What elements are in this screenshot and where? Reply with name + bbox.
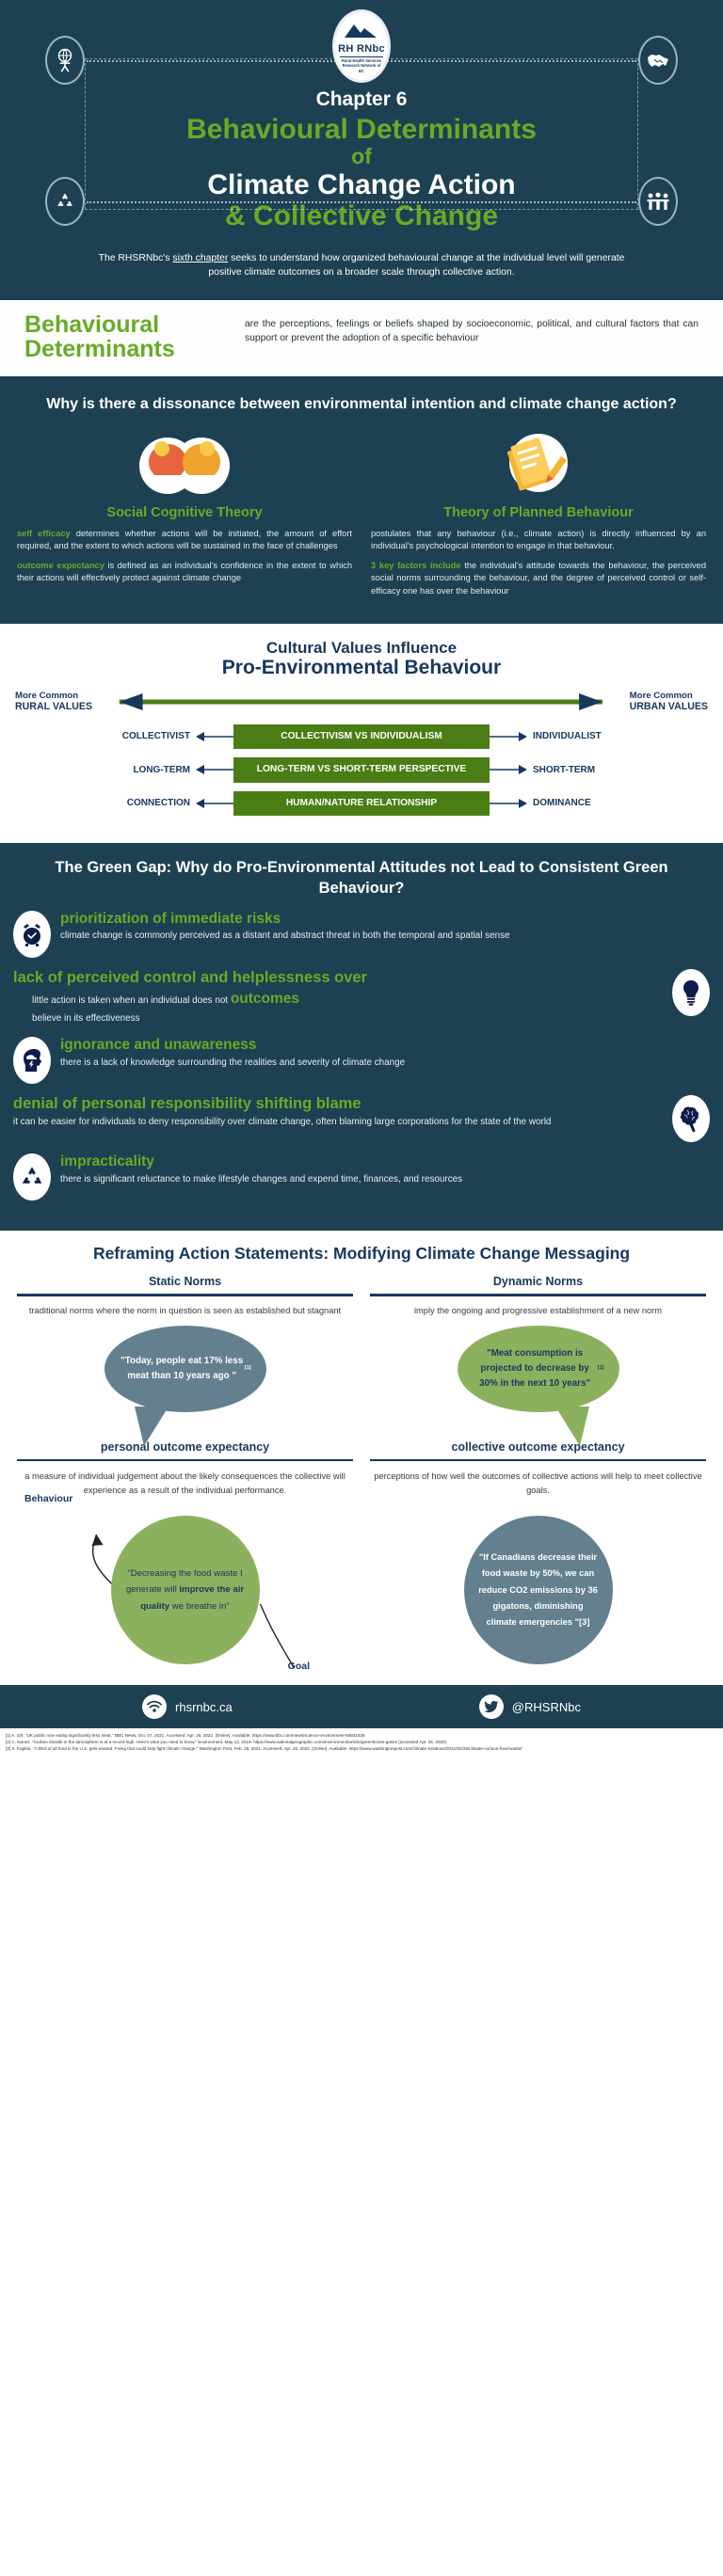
theory-para-1: self efficacy determines whether actions… (17, 528, 352, 552)
axis-label-urban-bottom: URBAN VALUES (630, 701, 708, 712)
gap-item-body: little action is taken when an individua… (13, 989, 663, 1010)
gap-item-denial: denial of personal responsibility shifti… (13, 1095, 710, 1142)
gap-item-title: ignorance and unawareness (60, 1037, 710, 1054)
theory-b-para-1: postulates that any behaviour (i.e., cli… (371, 528, 706, 552)
brain-icon (672, 1095, 710, 1142)
recycle-icon (45, 177, 85, 226)
theory-column-social-cognitive: Social Cognitive Theory self efficacy de… (17, 426, 352, 605)
clipboard-checklist-icon (371, 426, 706, 500)
intro-text-b: seeks to understand how organized behavi… (208, 253, 624, 278)
divider-rule (370, 1459, 706, 1462)
value-right-label: INDIVIDUALIST (527, 731, 648, 741)
people-group-icon (638, 177, 678, 226)
dynamic-norms-quote-bubble: "Meat consumption is projected to decrea… (458, 1326, 619, 1412)
hero-dotted-line-bottom (87, 201, 636, 203)
title-line-1: Behavioural Determinants (0, 115, 723, 145)
value-right-label: SHORT-TERM (527, 765, 648, 775)
divider-rule (17, 1459, 353, 1462)
reframing-section: Reframing Action Statements: Modifying C… (0, 1231, 723, 1685)
arrow-left-icon (196, 762, 233, 777)
reference-item: [2] C. Nunez, "Carbon dioxide in the atm… (6, 1739, 717, 1745)
arrow-left-icon (196, 796, 233, 811)
behaviour-label: Behaviour (24, 1493, 72, 1504)
handshake-icon (638, 36, 678, 85)
website-link[interactable]: rhsrnbc.ca (142, 1694, 233, 1719)
arrow-right-icon (490, 796, 527, 811)
arrow-right-icon (490, 762, 527, 777)
cultural-values-section: Cultural Values Influence Pro-Environmen… (0, 624, 723, 843)
static-norms-quote-bubble: "Today, people eat 17% less meat than 10… (104, 1326, 266, 1412)
definition-text: are the perceptions, feelings or beliefs… (245, 313, 699, 346)
logo-subtitle: Rural Health Services Research Network o… (340, 56, 383, 72)
gap-item-body-part-1: little action is taken when an individua… (32, 995, 231, 1006)
references-list: [1] A. Gill, "UK public now eating signi… (0, 1728, 723, 1759)
cultural-title-big: Pro-Environmental Behaviour (15, 657, 708, 679)
website-label: rhsrnbc.ca (175, 1700, 233, 1714)
head-storm-icon (13, 1037, 51, 1084)
gap-item-title: denial of personal responsibility shifti… (13, 1095, 663, 1113)
personal-outcome-expectancy-title: personal outcome expectancy (17, 1440, 353, 1454)
recycle-icon (13, 1153, 51, 1201)
static-norms-column: Static Norms traditional norms where the… (17, 1275, 353, 1668)
gap-item-title: impracticality (60, 1153, 710, 1170)
collective-outcome-expectancy-title: collective outcome expectancy (370, 1440, 706, 1454)
theory-column-planned-behaviour: Theory of Planned Behaviour postulates t… (371, 426, 706, 605)
static-norms-quote: "Today, people eat 17% less meat than 10… (120, 1354, 245, 1384)
gap-item-body: there is a lack of knowledge surrounding… (60, 1057, 710, 1070)
dynamic-norms-column: Dynamic Norms imply the ongoing and prog… (370, 1275, 706, 1668)
value-row: COLLECTIVIST COLLECTIVISM VS INDIVIDUALI… (15, 724, 708, 749)
dynamic-norms-description: imply the ongoing and progressive establ… (370, 1305, 706, 1318)
divider-rule (17, 1294, 353, 1296)
keyword-3-key-factors: 3 key factors include (371, 561, 461, 570)
behaviour-goal-diagram: Behaviour "Decreasing the food waste I g… (17, 1503, 353, 1668)
value-row: LONG-TERM LONG-TERM VS SHORT-TERM PERSPE… (15, 757, 708, 782)
bubble-tail (555, 1407, 589, 1446)
logo-wordmark: RH RNbc (338, 44, 385, 55)
chapter-label: Chapter 6 (0, 88, 723, 111)
twitter-handle[interactable]: @RHSRNbc (479, 1694, 581, 1719)
goal-label: Goal (288, 1661, 310, 1672)
collective-outcome-expectancy-desc: perceptions of how well the outcomes of … (370, 1470, 706, 1497)
reference-item: [1] A. Gill, "UK public now eating signi… (6, 1732, 717, 1739)
static-norms-subtitle: Static Norms (17, 1275, 353, 1288)
definition-term-line-2: Determinants (24, 338, 230, 362)
static-norms-quote-ref: [1] (245, 1364, 251, 1373)
gap-item-body-2: believe in its effectiveness (13, 1012, 663, 1026)
reference-item: [3] S. Kaplan, "A third of all food in t… (6, 1745, 717, 1752)
gap-item-body: it can be easier for individuals to deny… (13, 1116, 663, 1129)
twitter-label: @RHSRNbc (512, 1700, 581, 1714)
value-center-box: HUMAN/NATURE RELATIONSHIP (233, 791, 490, 816)
dissonance-section: Why is there a dissonance between enviro… (0, 380, 723, 624)
mountain-icon (343, 23, 380, 43)
gap-item-impracticality: impracticality there is significant relu… (13, 1153, 710, 1201)
gap-item-body: climate change is commonly perceived as … (60, 930, 710, 943)
dynamic-norms-bubble-wrap: "Meat consumption is projected to decrea… (370, 1326, 706, 1437)
title-line-2: of (0, 145, 723, 168)
rhsrnbc-logo: RH RNbc Rural Health Services Research N… (332, 9, 391, 83)
reframing-heading: Reframing Action Statements: Modifying C… (17, 1244, 706, 1264)
title-line-4: & Collective Change (0, 200, 723, 232)
value-right-label: DOMINANCE (527, 798, 648, 808)
axis-label-rural-bottom: RURAL VALUES (15, 701, 92, 712)
green-gap-section: The Green Gap: Why do Pro-Environmental … (0, 843, 723, 1231)
gap-item-title: prioritization of immediate risks (60, 911, 710, 928)
collective-statement-circle: "If Canadians decrease their food waste … (464, 1516, 613, 1664)
value-left-label: LONG-TERM (75, 765, 196, 775)
axis-label-urban-top: More Common (630, 691, 708, 701)
intro-link[interactable]: sixth chapter (172, 253, 228, 263)
theory-b-para-2: 3 key factors include the individual’s a… (371, 560, 706, 597)
hero-section: RH RNbc Rural Health Services Research N… (0, 0, 723, 300)
theory-para-2: outcome expectancy is defined as an indi… (17, 560, 352, 584)
gap-item-highlight: outcomes (231, 991, 299, 1007)
dynamic-norms-quote: "Meat consumption is projected to decrea… (473, 1346, 598, 1391)
gap-item-prioritization: prioritization of immediate risks climat… (13, 911, 710, 958)
collective-statement-text: "If Canadians decrease their food waste … (478, 1552, 598, 1627)
value-row: CONNECTION HUMAN/NATURE RELATIONSHIP DOM… (15, 791, 708, 816)
green-gap-heading: The Green Gap: Why do Pro-Environmental … (13, 858, 710, 899)
static-norms-bubble-wrap: "Today, people eat 17% less meat than 10… (17, 1326, 353, 1437)
two-heads-thinking-icon (17, 426, 352, 500)
footer-bar: rhsrnbc.ca @RHSRNbc (0, 1685, 723, 1728)
definition-term-line-1: Behavioural (24, 313, 230, 338)
gap-item-ignorance: ignorance and unawareness there is a lac… (13, 1037, 710, 1084)
title-line-3: Climate Change Action (0, 169, 723, 201)
value-left-label: CONNECTION (75, 798, 196, 808)
lightbulb-icon (672, 969, 710, 1016)
bubble-tail (135, 1407, 169, 1446)
intro-paragraph: The RHSRNbc's sixth chapter seeks to und… (98, 251, 625, 279)
arrow-left-icon (196, 729, 233, 744)
axis-double-arrow (96, 693, 626, 710)
personal-statement-c: we breathe in" (169, 1601, 230, 1612)
definition-band: Behavioural Determinants are the percept… (0, 300, 723, 380)
keyword-self-efficacy: self efficacy (17, 529, 71, 538)
gap-item-body: there is significant reluctance to make … (60, 1173, 710, 1186)
static-norms-description: traditional norms where the norm in ques… (17, 1305, 353, 1318)
dynamic-norms-subtitle: Dynamic Norms (370, 1275, 706, 1288)
dissonance-heading: Why is there a dissonance between enviro… (17, 395, 706, 415)
alarm-clock-icon (13, 911, 51, 958)
definition-term: Behavioural Determinants (24, 313, 230, 361)
divider-rule (370, 1294, 706, 1296)
globe-person-icon (45, 36, 85, 85)
rural-urban-axis: More Common RURAL VALUES More Common URB… (15, 691, 708, 712)
theory-title-social-cognitive: Social Cognitive Theory (17, 505, 352, 520)
axis-label-urban: More Common URBAN VALUES (630, 691, 708, 712)
theory-title-planned-behaviour: Theory of Planned Behaviour (371, 505, 706, 520)
arrow-right-icon (490, 729, 527, 744)
wifi-icon (142, 1694, 167, 1719)
collective-statement-wrap: "If Canadians decrease their food waste … (370, 1503, 706, 1668)
keyword-outcome-expectancy: outcome expectancy (17, 561, 104, 570)
twitter-bird-icon (479, 1694, 504, 1719)
value-center-box: LONG-TERM VS SHORT-TERM PERSPECTIVE (233, 757, 490, 782)
axis-label-rural: More Common RURAL VALUES (15, 691, 92, 712)
gap-item-title: lack of perceived control and helplessne… (13, 969, 663, 987)
infographic-page: RH RNbc Rural Health Services Research N… (0, 0, 723, 1759)
value-left-label: COLLECTIVIST (75, 731, 196, 741)
personal-statement-circle: "Decreasing the food waste I generate wi… (111, 1516, 260, 1664)
axis-label-rural-top: More Common (15, 691, 92, 701)
value-center-box: COLLECTIVISM VS INDIVIDUALISM (233, 724, 490, 749)
intro-text-a: The RHSRNbc's (99, 253, 173, 263)
collective-statement-ref: [3] (579, 1617, 589, 1627)
dynamic-norms-quote-ref: [1] (598, 1364, 604, 1373)
gap-item-lack-of-control: lack of perceived control and helplessne… (13, 969, 710, 1026)
cultural-title-small: Cultural Values Influence (15, 639, 708, 658)
